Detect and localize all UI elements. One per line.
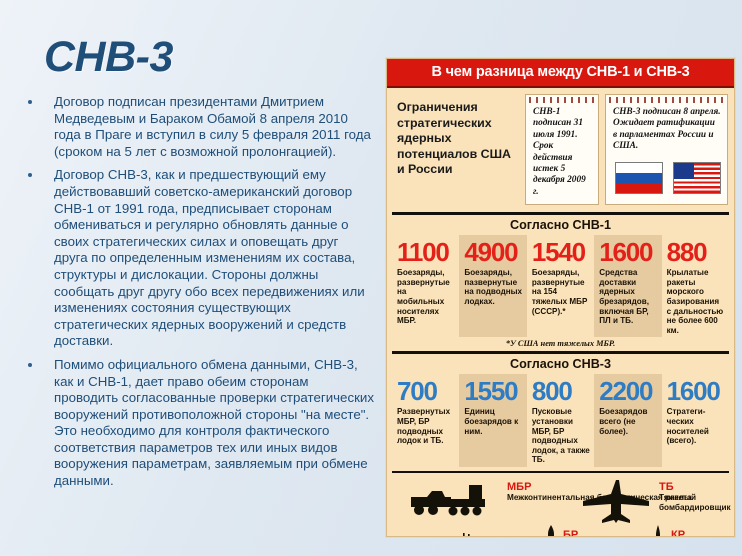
bullet-text: Помимо официального обмена данными, СНВ-… — [54, 357, 374, 490]
stat-cell: 1540 Боезаряды, развернутые на 154 тяжел… — [527, 235, 594, 337]
slide: СНВ-3 Договор подписан президентами Дмит… — [0, 0, 742, 556]
stat-value: 1600 — [599, 239, 657, 265]
stat-cell: 4900 Боезаряды, пазвернутые на подводных… — [459, 235, 526, 337]
legend-item-heavy-bomber: ТБ Тяжелый бомбардировщик — [659, 481, 734, 512]
stat-cell: 1600 Стратеги-ческих носителей (всего). — [662, 374, 729, 467]
stat-caption: Единиц боезарядов к ним. — [464, 407, 522, 436]
note-text: СНВ-1 подписан 31 июля 1991. Срок действ… — [533, 107, 592, 198]
list-item: Помимо официального обмена данными, СНВ-… — [14, 357, 374, 490]
missile-launcher-truck-icon — [409, 485, 495, 517]
stat-value: 880 — [667, 239, 725, 265]
stat-caption: Боезаряды, развернутые на 154 тяжелых МБ… — [532, 268, 590, 316]
bullet-dot-icon — [28, 363, 32, 367]
legend: МБР Межконтинентальная баллистическая ра… — [387, 473, 734, 537]
list-item: Договор СНВ-3, как и предшествующий ему … — [14, 167, 374, 350]
bullet-text: Договор подписан президентами Дмитрием М… — [54, 94, 374, 160]
stat-caption: Крылатые ракеты морского базирования с д… — [667, 268, 725, 335]
list-item: Договор подписан президентами Дмитрием М… — [14, 94, 374, 160]
flag-group — [613, 162, 721, 194]
legend-abbr: БР — [563, 529, 659, 537]
heavy-bomber-icon — [583, 479, 651, 523]
note-card-start3: СНВ-3 подписан 8 апреля. Ожидает ратифик… — [605, 94, 728, 205]
stat-cell: 1600 Средства доставки ядерных брезарядо… — [594, 235, 661, 337]
stat-caption: Боезаряды, развернутые на мобильных носи… — [397, 268, 455, 326]
stat-cell: 1100 Боезаряды, развернутые на мобильных… — [392, 235, 459, 337]
ballistic-missile-icon — [545, 525, 559, 537]
stat-value: 1550 — [464, 378, 522, 404]
infographic-header-row: Ограничения стратегических ядерных потен… — [387, 88, 734, 212]
infographic-title: В чем разница между СНВ-1 и СНВ-3 — [387, 59, 734, 88]
stat-caption: Стратеги-ческих носителей (всего). — [667, 407, 725, 445]
stat-value: 1100 — [397, 239, 455, 265]
footnote-start1: *У США нет тяжелых МБР. — [387, 339, 734, 351]
bullet-list: Договор подписан президентами Дмитрием М… — [14, 94, 374, 497]
stat-value: 4900 — [464, 239, 522, 265]
stat-value: 700 — [397, 378, 455, 404]
legend-abbr: ТБ — [659, 481, 734, 493]
bullet-dot-icon — [28, 100, 32, 104]
stat-value: 1600 — [667, 378, 725, 404]
usa-flag-canton — [674, 163, 694, 179]
legend-item-ballistic-missile: БР Баллистическая ракета — [563, 529, 659, 537]
legend-item-cruise-missile: КР Крылатая ракета — [671, 529, 734, 537]
stat-cell: 2200 Боезарядов всего (не более). — [594, 374, 661, 467]
notepad-rings-icon — [609, 97, 724, 103]
submarine-icon — [439, 533, 525, 537]
stat-caption: Средства доставки ядерных брезарядов, вк… — [599, 268, 657, 326]
bullet-dot-icon — [28, 173, 32, 177]
russia-flag-icon — [615, 162, 663, 194]
band-start1: Согласно СНВ-1 — [387, 215, 734, 235]
legend-abbr: КР — [671, 529, 734, 537]
stat-value: 1540 — [532, 239, 590, 265]
cruise-missile-icon — [649, 525, 667, 537]
stats-row-start3: 700 Развернутых МБР, БР подводных лодок … — [387, 374, 734, 471]
bullet-text: Договор СНВ-3, как и предшествующий ему … — [54, 167, 374, 350]
stat-caption: Боезарядов всего (не более). — [599, 407, 657, 436]
stat-cell: 700 Развернутых МБР, БР подводных лодок … — [392, 374, 459, 467]
usa-flag-icon — [673, 162, 721, 194]
stat-caption: Развернутых МБР, БР подводных лодок и ТБ… — [397, 407, 455, 445]
infographic: В чем разница между СНВ-1 и СНВ-3 Ограни… — [386, 58, 735, 537]
stat-value: 2200 — [599, 378, 657, 404]
page-title: СНВ-3 — [44, 36, 173, 79]
stat-value: 800 — [532, 378, 590, 404]
band-start3: Согласно СНВ-3 — [387, 354, 734, 374]
stat-caption: Пусковые установки МБР, БР подводных лод… — [532, 407, 590, 465]
stat-cell: 1550 Единиц боезарядов к ним. — [459, 374, 526, 467]
stat-cell: 880 Крылатые ракеты морского базирования… — [662, 235, 729, 337]
legend-desc: Тяжелый бомбардировщик — [659, 493, 734, 512]
infographic-subject: Ограничения стратегических ядерных потен… — [393, 94, 519, 205]
stat-cell: 800 Пусковые установки МБР, БР подводных… — [527, 374, 594, 467]
notepad-rings-icon — [529, 97, 595, 103]
note-text: СНВ-3 подписан 8 апреля. Ожидает ратифик… — [613, 107, 721, 153]
note-card-start1: СНВ-1 подписан 31 июля 1991. Срок действ… — [525, 94, 599, 205]
stats-row-start1: 1100 Боезаряды, развернутые на мобильных… — [387, 235, 734, 341]
text-column: СНВ-3 Договор подписан президентами Дмит… — [0, 0, 386, 556]
stat-caption: Боезаряды, пазвернутые на подводных лодк… — [464, 268, 522, 306]
